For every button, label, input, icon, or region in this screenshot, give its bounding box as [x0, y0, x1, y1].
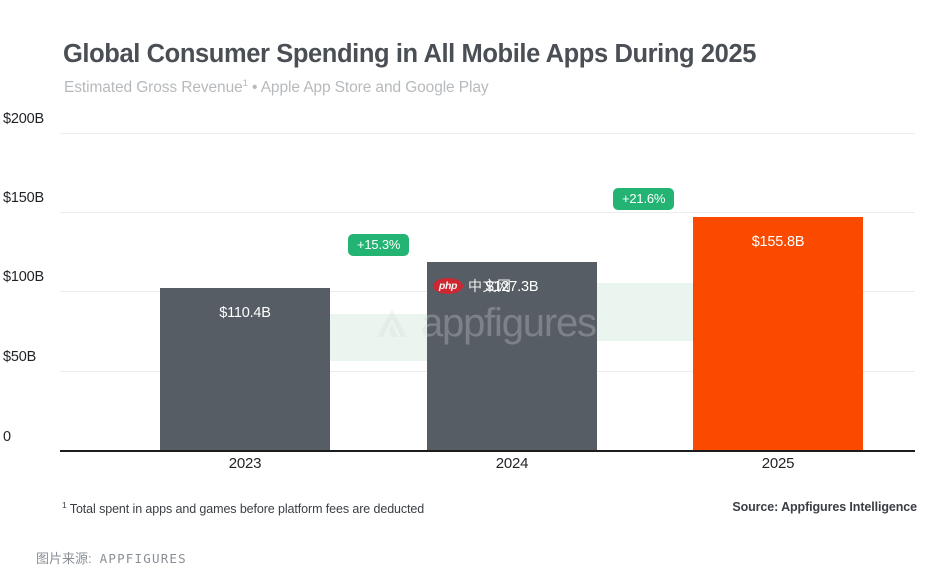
bar-value-2023: $110.4B: [160, 305, 330, 321]
image-credit-label: 图片来源:: [36, 551, 92, 566]
chart-subtitle-main: Estimated Gross Revenue: [64, 79, 243, 96]
footnote-text: Total spent in apps and games before pla…: [67, 502, 425, 516]
ytick-label-0: 0: [3, 429, 11, 445]
chart-title: Global Consumer Spending in All Mobile A…: [63, 40, 923, 69]
ytick-label-150: $150B: [3, 190, 44, 206]
ytick-label-100: $100B: [3, 269, 44, 285]
xtick-label-2024: 2024: [427, 455, 597, 472]
ytick-label-50: $50B: [3, 349, 36, 365]
xtick-label-2023: 2023: [160, 455, 330, 472]
x-axis-baseline: [60, 450, 915, 452]
php-logo-icon: php: [433, 278, 463, 294]
growth-badge-2024[interactable]: +15.3%: [348, 234, 409, 256]
chart-subtitle-sources: • Apple App Store and Google Play: [248, 79, 489, 96]
growth-badge-2025[interactable]: +21.6%: [613, 188, 674, 210]
gridline-150: [60, 212, 915, 213]
bar-2025[interactable]: $155.8B: [693, 217, 863, 452]
chart-subtitle: Estimated Gross Revenue1 • Apple App Sto…: [64, 78, 924, 97]
image-credit: 图片来源:APPFIGURES: [36, 548, 187, 567]
bar-2023[interactable]: $110.4B: [160, 288, 330, 452]
chart-figure: Global Consumer Spending in All Mobile A…: [0, 0, 951, 582]
gridline-200: [60, 133, 915, 134]
ytick-label-200: $200B: [3, 111, 44, 127]
chart-source: Source: Appfigures Intelligence: [732, 500, 917, 514]
image-credit-value: APPFIGURES: [100, 551, 187, 566]
php-chinese-watermark: php 中文网: [433, 278, 512, 294]
php-watermark-text: 中文网: [468, 279, 512, 293]
bar-value-2025: $155.8B: [693, 234, 863, 250]
xtick-label-2025: 2025: [693, 455, 863, 472]
chart-footnote: 1 Total spent in apps and games before p…: [62, 500, 424, 516]
